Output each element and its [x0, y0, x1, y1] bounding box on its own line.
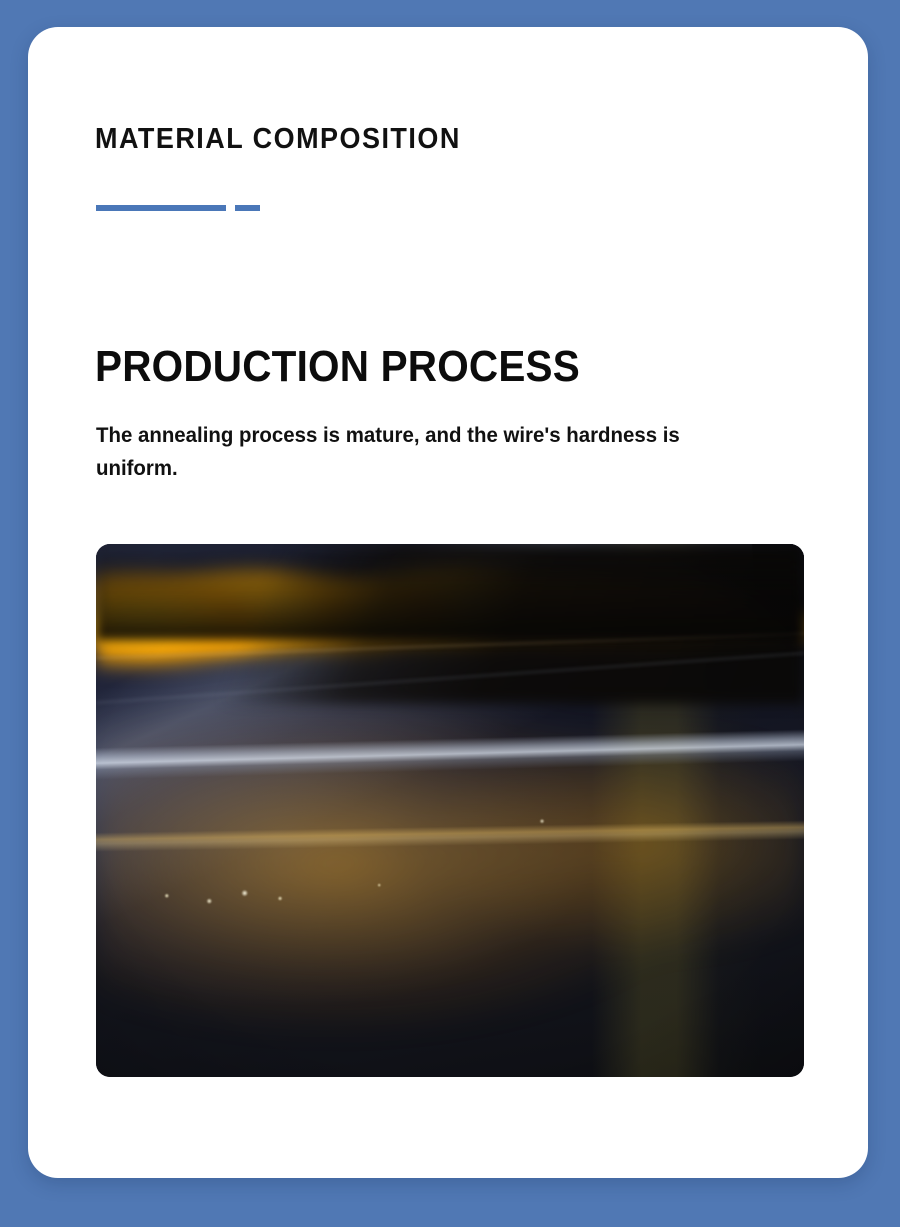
slide-frame: MATERIAL COMPOSITION PRODUCTION PROCESS … [0, 0, 900, 1227]
section-label: MATERIAL COMPOSITION [95, 124, 461, 154]
accent-divider-segment-short [235, 205, 260, 211]
content-card: MATERIAL COMPOSITION PRODUCTION PROCESS … [28, 27, 868, 1178]
body-paragraph: The annealing process is mature, and the… [96, 419, 723, 486]
process-photo [96, 544, 804, 1077]
page-title: PRODUCTION PROCESS [95, 343, 580, 391]
accent-divider-segment-long [96, 205, 226, 211]
card-content-column: MATERIAL COMPOSITION PRODUCTION PROCESS … [95, 27, 807, 1178]
accent-divider [96, 205, 260, 211]
photo-layer-vignette [96, 544, 804, 1077]
